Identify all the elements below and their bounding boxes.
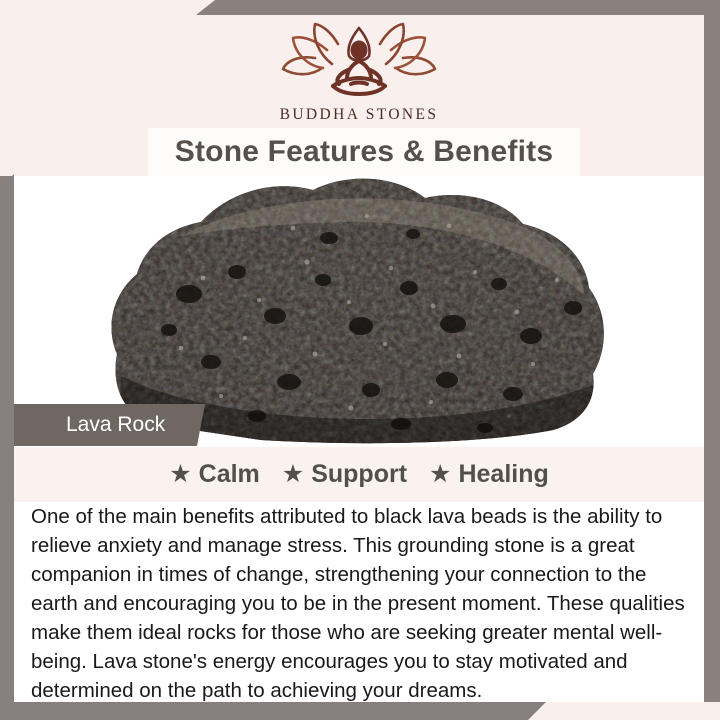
benefit-label: Support [311,460,407,489]
lotus-meditation-figure-icon [275,22,443,100]
benefit-item-healing: ★ Healing [429,460,549,489]
star-icon: ★ [429,462,451,487]
star-icon: ★ [282,462,304,487]
infographic-card: BUDDHA STONES Stone Features & Benefits [0,0,720,720]
page-title: Stone Features & Benefits [175,135,553,169]
benefit-item-calm: ★ Calm [169,460,260,489]
brand-logo: BUDDHA STONES [275,22,443,124]
frame-bar-right [704,0,720,720]
benefit-label: Calm [199,460,260,489]
star-icon: ★ [169,462,191,487]
brand-name: BUDDHA STONES [280,106,439,124]
photo-label-bar: Lava Rock [14,404,205,446]
benefit-item-support: ★ Support [282,460,407,489]
frame-bar-left [0,174,14,720]
description-text: One of the main benefits attributed to b… [14,502,704,705]
description-area: One of the main benefits attributed to b… [14,502,704,702]
brand-header: BUDDHA STONES [14,6,704,134]
benefit-label: Healing [458,460,548,489]
photo-label-text: Lava Rock [66,413,165,437]
benefits-row: ★ Calm ★ Support ★ Healing [169,460,549,489]
title-banner: Stone Features & Benefits [148,128,580,176]
benefits-band: ★ Calm ★ Support ★ Healing [14,447,704,502]
